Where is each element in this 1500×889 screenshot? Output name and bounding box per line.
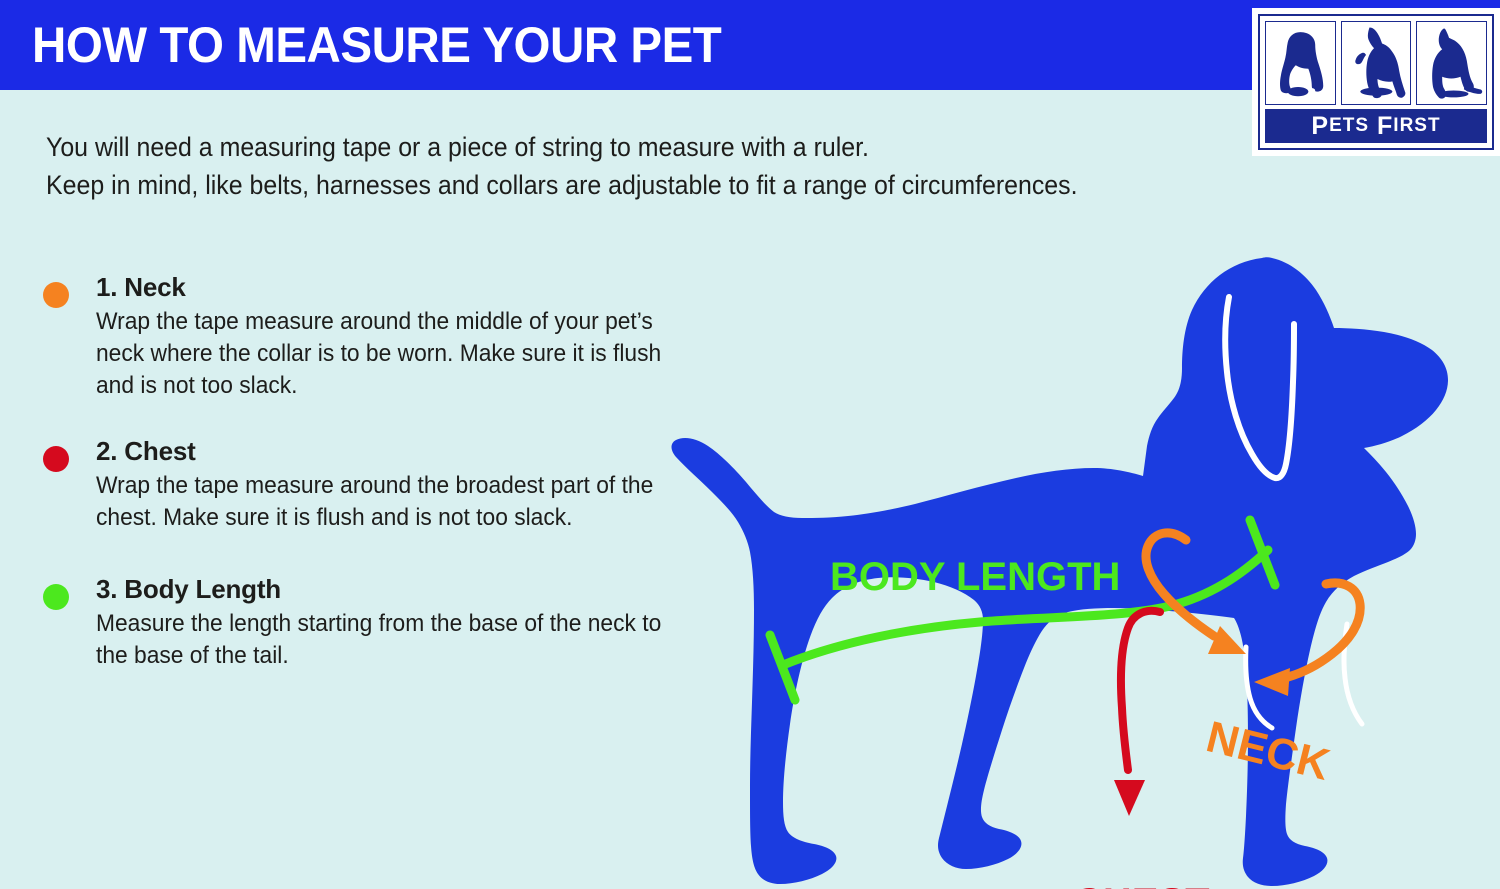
- intro-text: You will need a measuring tape or a piec…: [46, 128, 1259, 204]
- chest-annotation: CHEST: [1074, 611, 1224, 889]
- intro-line-2: Keep in mind, like belts, harnesses and …: [46, 166, 1259, 204]
- step-item-body-length: 3. Body Length Measure the length starti…: [40, 574, 670, 672]
- howling-dog-silhouette-icon: [1341, 21, 1412, 105]
- shepherd-dog-silhouette-icon: [1416, 21, 1487, 105]
- step-body-body-length: Measure the length starting from the bas…: [96, 608, 666, 672]
- logo-dog-row: [1265, 21, 1487, 105]
- logo-wordmark: PETS FIRST: [1265, 109, 1487, 143]
- step-item-neck: 1. Neck Wrap the tape measure around the…: [40, 272, 670, 402]
- step-body-chest: Wrap the tape measure around the broades…: [96, 470, 666, 534]
- step-title-chest: 2. Chest: [96, 436, 670, 467]
- step-item-chest: 2. Chest Wrap the tape measure around th…: [40, 436, 670, 534]
- page-title: HOW TO MEASURE YOUR PET: [32, 16, 721, 74]
- logo-wordmark-irst: IRST: [1393, 115, 1440, 137]
- intro-line-1: You will need a measuring tape or a piec…: [46, 128, 1259, 166]
- logo-wordmark-f: F: [1377, 112, 1393, 141]
- sitting-dog-silhouette-icon: [1265, 21, 1336, 105]
- step-title-neck: 1. Neck: [96, 272, 670, 303]
- bullet-dot-red-icon: [43, 446, 69, 472]
- step-title-body-length: 3. Body Length: [96, 574, 670, 605]
- logo-wordmark-ets: ETS: [1329, 115, 1369, 137]
- bullet-dot-orange-icon: [43, 282, 69, 308]
- dog-measurement-illustration: BODY LENGTH CHEST NECK: [650, 240, 1500, 889]
- logo-frame: PETS FIRST: [1258, 14, 1494, 150]
- pets-first-logo: PETS FIRST: [1252, 8, 1500, 156]
- infographic-page: HOW TO MEASURE YOUR PET: [0, 0, 1500, 889]
- logo-wordmark-p: P: [1311, 112, 1329, 141]
- body-length-label: BODY LENGTH: [830, 555, 1120, 599]
- measurement-steps-list: 1. Neck Wrap the tape measure around the…: [40, 272, 670, 702]
- chest-label: CHEST: [1074, 881, 1210, 889]
- bullet-dot-green-icon: [43, 584, 69, 610]
- step-body-neck: Wrap the tape measure around the middle …: [96, 306, 666, 402]
